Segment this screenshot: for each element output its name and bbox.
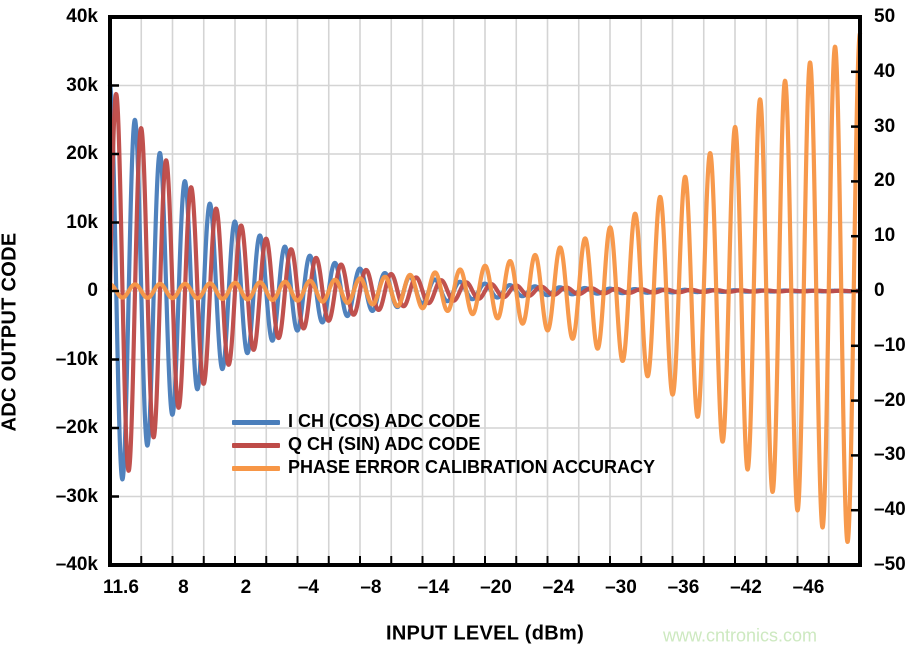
x-axis-tick: 8 bbox=[178, 577, 189, 599]
y-axis-left-tick: –40k bbox=[56, 554, 98, 576]
y-axis-left-tick: –30k bbox=[56, 486, 98, 508]
y-axis-left-tick: –20k bbox=[56, 417, 98, 439]
x-axis-tick: –42 bbox=[730, 577, 762, 599]
y-axis-right-tick: –10 bbox=[874, 335, 906, 357]
y-axis-left-tick: –10k bbox=[56, 349, 98, 371]
x-axis-tick: 11.6 bbox=[103, 577, 139, 599]
x-axis-tick: –20 bbox=[480, 577, 512, 599]
x-axis-tick: –24 bbox=[543, 577, 575, 599]
x-axis-tick: 2 bbox=[241, 577, 252, 599]
legend-label: Q CH (SIN) ADC CODE bbox=[288, 434, 480, 455]
legend-swatch bbox=[232, 420, 280, 425]
y-axis-right-tick: 30 bbox=[874, 116, 895, 138]
y-axis-left-tick: 10k bbox=[66, 212, 98, 234]
y-axis-right-tick: –20 bbox=[874, 390, 906, 412]
x-axis-tick: –46 bbox=[793, 577, 825, 599]
legend-swatch bbox=[232, 466, 280, 471]
y-axis-left-tick: 20k bbox=[66, 143, 98, 165]
y-axis-right-tick: –30 bbox=[874, 444, 906, 466]
y-axis-left-tick: 40k bbox=[66, 6, 98, 28]
y-axis-right-tick: 20 bbox=[874, 170, 895, 192]
y-axis-right-tick: –50 bbox=[874, 554, 906, 576]
y-axis-left-tick: 30k bbox=[66, 75, 98, 97]
y-axis-right-tick: 50 bbox=[874, 6, 895, 28]
legend-label: PHASE ERROR CALIBRATION ACCURACY bbox=[288, 457, 655, 478]
legend-label: I CH (COS) ADC CODE bbox=[288, 411, 480, 432]
y-axis-right-tick: 10 bbox=[874, 225, 895, 247]
x-axis-tick: –4 bbox=[298, 577, 319, 599]
plot-area bbox=[0, 0, 918, 664]
y-axis-left-tick: 0 bbox=[87, 280, 98, 302]
y-axis-right-tick: 40 bbox=[874, 61, 895, 83]
x-axis-tick: –30 bbox=[605, 577, 637, 599]
legend-swatch bbox=[232, 443, 280, 448]
x-axis-tick: –36 bbox=[668, 577, 700, 599]
y-axis-right-tick: –40 bbox=[874, 499, 906, 521]
chart-container: ADC OUTPUT CODE INPUT LEVEL (dBm) www.cn… bbox=[0, 0, 918, 664]
x-axis-tick: –14 bbox=[418, 577, 450, 599]
x-axis-tick: –8 bbox=[360, 577, 381, 599]
y-axis-right-tick: 0 bbox=[874, 280, 885, 302]
